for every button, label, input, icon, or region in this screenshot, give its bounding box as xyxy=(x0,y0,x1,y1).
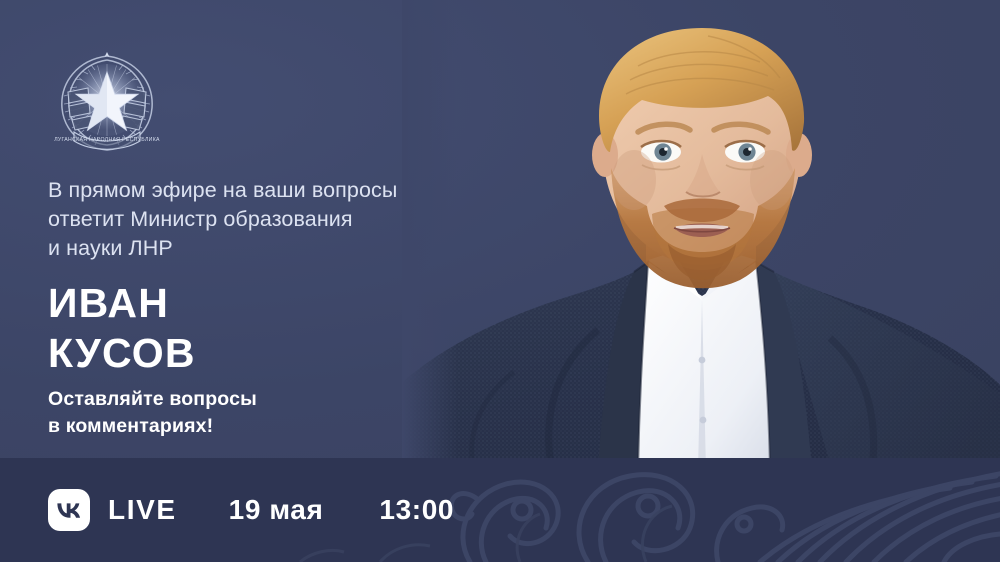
live-label: LIVE xyxy=(108,494,177,526)
speaker-name: ИВАН КУСОВ xyxy=(48,278,196,378)
emblem-ribbon-text: ЛУГАНСКАЯ НАРОДНАЯ РЕСПУБЛИКА xyxy=(54,137,160,143)
speaker-last-name: КУСОВ xyxy=(48,328,196,378)
footer-info-bar: LIVE 19 мая 13:00 xyxy=(48,458,454,562)
broadcast-time: 13:00 xyxy=(379,494,454,526)
lnr-coat-of-arms-emblem: ЛУГАНСКАЯ НАРОДНАЯ РЕСПУБЛИКА xyxy=(48,48,166,160)
speaker-portrait xyxy=(402,0,1000,470)
vk-logo-icon[interactable] xyxy=(48,489,90,531)
call-to-action: Оставляйте вопросы в комментариях! xyxy=(48,386,257,440)
broadcast-date: 19 мая xyxy=(229,494,324,526)
vk-live-announcement-poster: ЛУГАНСКАЯ НАРОДНАЯ РЕСПУБЛИКА В прямом э… xyxy=(0,0,1000,562)
speaker-first-name: ИВАН xyxy=(48,278,196,328)
cta-line-1: Оставляйте вопросы xyxy=(48,386,257,413)
cta-line-2: в комментариях! xyxy=(48,413,257,440)
